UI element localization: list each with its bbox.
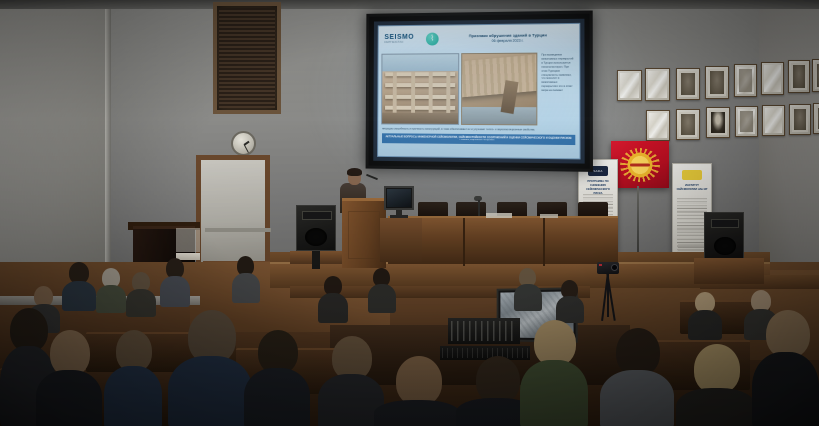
- portrait-frame: [734, 64, 757, 97]
- audience-member: [556, 280, 584, 322]
- conference-location: г. Бишкек, Кыргызская Республика: [384, 139, 573, 144]
- audience-member: [688, 292, 722, 338]
- flag-pole: [637, 186, 639, 262]
- documents-on-table: [486, 213, 512, 218]
- slide-title-line2: 06 февраля 2023 г.: [442, 38, 576, 43]
- loudspeaker-left: [296, 205, 336, 251]
- slide-header: SEISMO КЫРГЫЗСТАН ⌇ Признаки обрушения з…: [379, 24, 580, 52]
- slide-conference-band: АКТУАЛЬНЫЕ ВОПРОСЫ ИНЖЕНЕРНОЙ СЕЙСМОЛОГИ…: [382, 133, 575, 145]
- audience-member: [62, 262, 96, 310]
- left-wall: [0, 0, 110, 300]
- flag-tunduk: [630, 163, 650, 166]
- slide-body: При возведении межэтажных перекрытий в Т…: [378, 50, 579, 127]
- portrait-frame: [789, 104, 811, 135]
- loudspeaker-right: [704, 212, 744, 260]
- badge-glyph: ⌇: [430, 35, 434, 43]
- portrait-frame: [812, 59, 819, 92]
- portrait-frame: [735, 106, 758, 137]
- portrait-frame: [706, 107, 730, 138]
- audience-member: [318, 276, 348, 322]
- slide-body-text: несущую способность и прочность конструк…: [382, 127, 575, 132]
- audience-member: [752, 310, 819, 426]
- auditorium-scene: SADA ПРОГРАММА ПО СНИЖЕНИЮ СЕЙСМИЧЕСКОГО…: [0, 0, 819, 426]
- portrait-frame: [617, 70, 642, 101]
- portrait-frame: [705, 66, 729, 99]
- camera-record-indicator: [599, 264, 602, 266]
- banner-logo-icon: [682, 170, 702, 180]
- speaker-stand: [312, 251, 320, 269]
- kyrgyzstan-flag: [611, 141, 669, 188]
- audience-member: [520, 320, 588, 426]
- speaker-table-right: [694, 258, 764, 284]
- seismo-tagline: КЫРГЫЗСТАН: [384, 41, 423, 44]
- wall-clock-icon: [231, 131, 256, 156]
- slide-content: SEISMO КЫРГЫЗСТАН ⌇ Признаки обрушения з…: [377, 23, 580, 160]
- audience-member: [676, 344, 756, 426]
- presenter-desk: [380, 218, 422, 262]
- documents-on-table: [540, 214, 558, 218]
- seismo-logo: SEISMO КЫРГЫЗСТАН: [382, 33, 423, 44]
- audience-member: [600, 328, 674, 426]
- audience-member: [374, 356, 460, 426]
- banner-logo-text: SADA: [593, 169, 602, 173]
- audience-member: [232, 256, 260, 302]
- seismo-wordmark: SEISMO: [384, 33, 423, 40]
- slide-side-text: При возведении межэтажных перекрытий в Т…: [539, 52, 576, 125]
- projection-screen: SEISMO КЫРГЫЗСТАН ⌇ Признаки обрушения з…: [366, 10, 593, 171]
- tripod-leg: [607, 273, 609, 317]
- portrait-frame: [762, 105, 785, 136]
- presenter-hair: [347, 168, 362, 176]
- audience-member: [96, 268, 126, 312]
- portrait-frame: [646, 110, 670, 141]
- portrait-frame: [761, 62, 784, 95]
- portrait-frame: [645, 68, 670, 101]
- banner-title: ИНСТИТУТ СЕЙСМОЛОГИИ НАН КР: [676, 184, 708, 192]
- presidium-table: [388, 216, 618, 264]
- portrait-frame: [676, 68, 700, 100]
- audience-member: [514, 268, 542, 310]
- audio-mixer[interactable]: [448, 318, 520, 344]
- audience-member: [168, 310, 252, 426]
- portrait-frame: [676, 109, 700, 140]
- slide-photo-collapsed-slab: [461, 53, 537, 126]
- audience-member: [368, 268, 396, 312]
- audience-member: [126, 272, 156, 316]
- wall-vent-panel: [213, 2, 281, 114]
- portrait-frame: [788, 60, 810, 93]
- slide-title-block: Признаки обрушения зданий в Турции 06 фе…: [442, 32, 576, 43]
- audience-member: [160, 258, 190, 306]
- seismo-badge-icon: ⌇: [426, 32, 439, 45]
- audience-member: [104, 330, 162, 426]
- slide-photo-collapsed-building: [381, 53, 459, 125]
- camera-lens-icon: [611, 264, 618, 271]
- portrait-frame: [813, 103, 819, 134]
- ceiling-cornice: [0, 0, 819, 9]
- audience-member: [36, 330, 102, 426]
- presenter-monitor[interactable]: [384, 186, 414, 210]
- audience-member: [244, 330, 310, 426]
- wall-corner-edge: [105, 0, 111, 300]
- monitor-screen: [387, 189, 411, 207]
- corridor-rail: [205, 228, 271, 232]
- slide-footer: несущую способность и прочность конструк…: [378, 126, 579, 158]
- piano-side-panel: [176, 228, 200, 252]
